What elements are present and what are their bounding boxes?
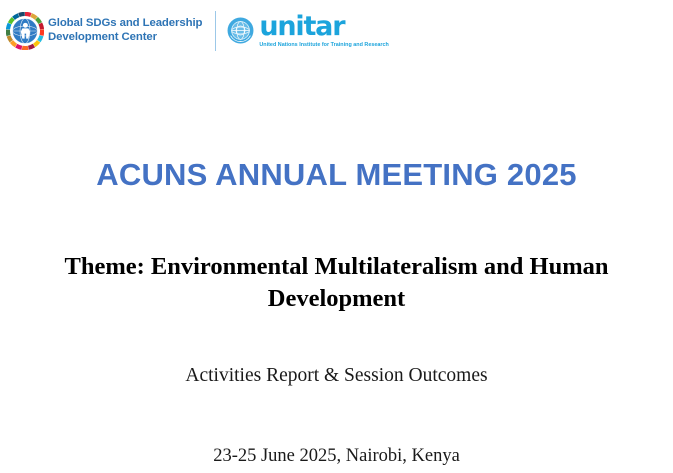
meeting-title: ACUNS ANNUAL MEETING 2025 bbox=[0, 62, 673, 193]
unitar-wordmark: unitar bbox=[259, 14, 389, 40]
unitar-logo-lockup: unitar United Nations Institute for Trai… bbox=[227, 14, 389, 48]
sdg-center-organization-name: Global SDGs and Leadership Development C… bbox=[48, 17, 202, 45]
sdg-wheel-icon bbox=[6, 12, 44, 50]
document-header: Global SDGs and Leadership Development C… bbox=[0, 0, 673, 62]
cover-content: ACUNS ANNUAL MEETING 2025 Theme: Environ… bbox=[0, 62, 673, 467]
sdg-center-logo-lockup: Global SDGs and Leadership Development C… bbox=[6, 12, 202, 50]
report-subtitle: Activities Report & Session Outcomes bbox=[0, 315, 673, 387]
logo-divider bbox=[215, 11, 216, 51]
un-emblem-icon bbox=[227, 17, 254, 44]
meeting-theme: Theme: Environmental Multilateralism and… bbox=[57, 193, 617, 316]
unitar-tagline: United Nations Institute for Training an… bbox=[259, 42, 389, 48]
event-date-location: 23-25 June 2025, Nairobi, Kenya bbox=[0, 388, 673, 467]
